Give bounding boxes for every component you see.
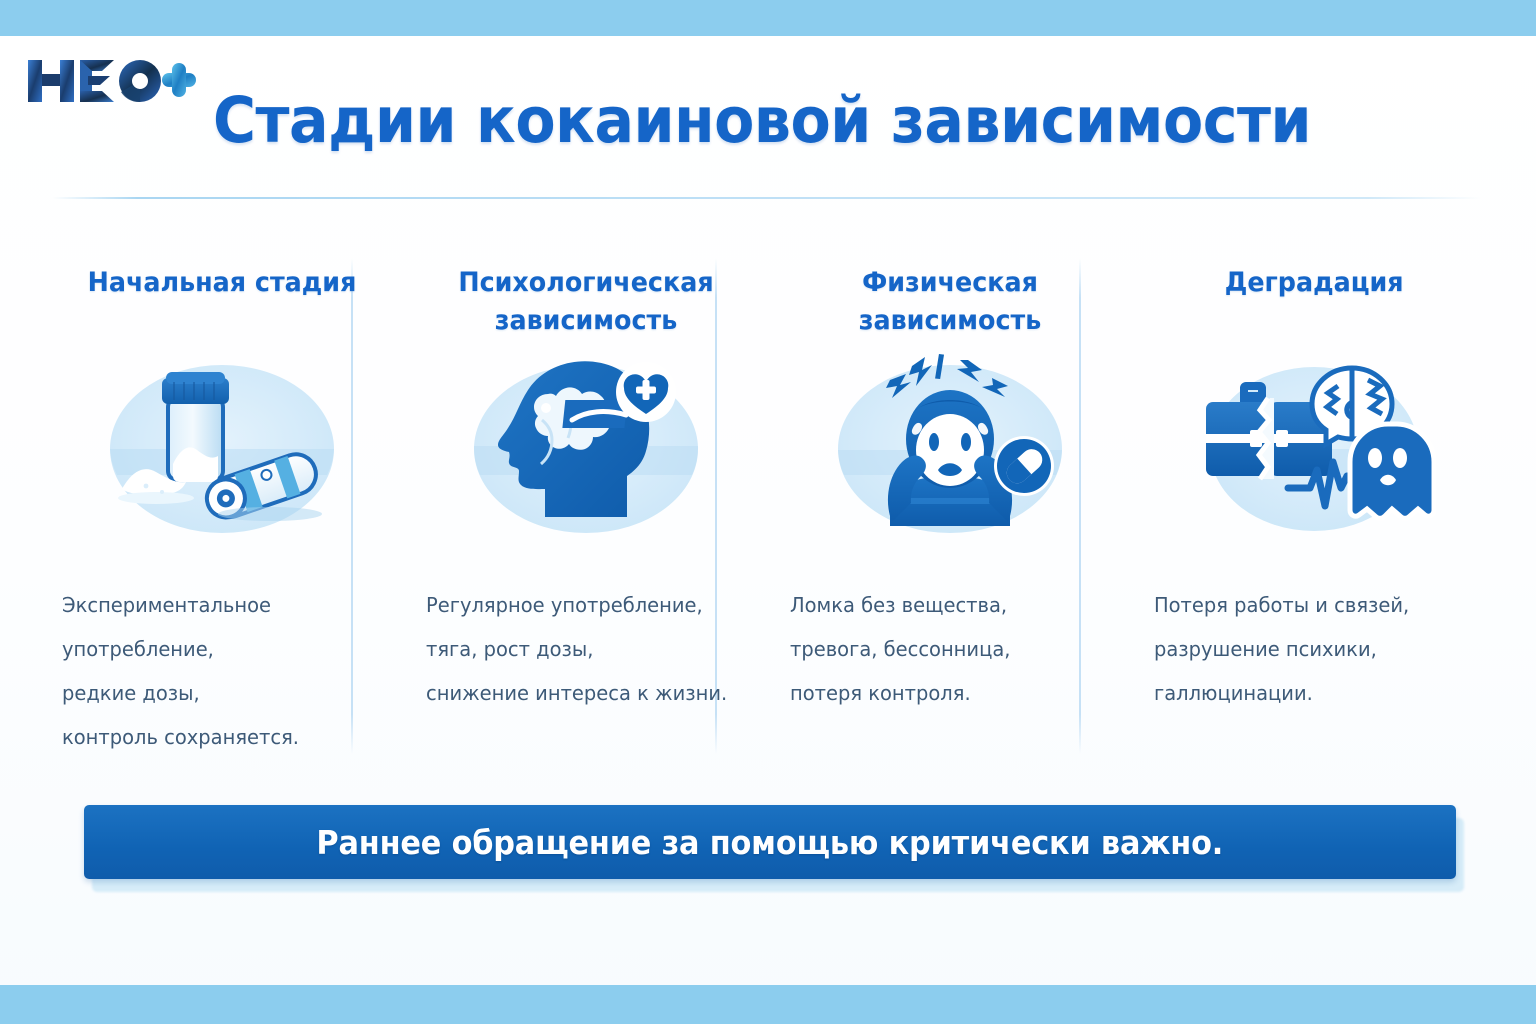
- stage-card-4: Деградация: [1132, 250, 1496, 770]
- stage-title-2: Психологическая зависимость: [436, 264, 737, 340]
- stage-body-3: Ломка без вещества, тревога, бессонница,…: [790, 583, 1094, 715]
- page-title: Стадии кокаиновой зависимости: [213, 79, 1329, 163]
- logo-letter-h: [28, 60, 74, 102]
- logo-plus-icon: [162, 63, 196, 97]
- broken-briefcase-brain-ghost-icon: [1192, 346, 1436, 551]
- infographic-canvas: Стадии кокаиновой зависимости Начальная …: [0, 0, 1536, 1024]
- distressed-person-with-pill-icon: [828, 346, 1072, 551]
- stage-card-2: Психологическая зависимость: [404, 250, 768, 770]
- stage-body-4: Потеря работы и связей, разрушение психи…: [1154, 583, 1458, 715]
- stage-title-3: Физическая зависимость: [800, 264, 1101, 340]
- brand-logo: [22, 52, 198, 110]
- cta-banner-text: Раннее обращение за помощью критически в…: [317, 823, 1224, 862]
- pill-capsule-badge: [994, 436, 1054, 496]
- stage-title-4: Деградация: [1225, 264, 1404, 340]
- head-brain-heart-plus-icon: [464, 346, 708, 551]
- stage-title-1: Начальная стадия: [88, 264, 357, 340]
- cta-banner: Раннее обращение за помощью критически в…: [84, 805, 1456, 879]
- logo-letter-e: [80, 60, 114, 102]
- top-accent-band: [0, 0, 1536, 36]
- bottom-accent-band: [0, 985, 1536, 1024]
- stage-card-3: Физическая зависимость: [768, 250, 1132, 770]
- stages-row: Начальная стадия: [40, 250, 1496, 770]
- stage-body-2: Регулярное употребление, тяга, рост дозы…: [426, 583, 730, 715]
- stage-card-1: Начальная стадия: [40, 250, 404, 770]
- stage-body-1: Экспериментальное употребление, редкие д…: [62, 583, 366, 759]
- logo-letter-o: [119, 60, 161, 102]
- ghost: [1350, 424, 1434, 518]
- title-divider: [52, 197, 1482, 199]
- powder-jar-and-rolled-bill-icon: [100, 346, 344, 551]
- heart-plus-badge: [616, 362, 676, 422]
